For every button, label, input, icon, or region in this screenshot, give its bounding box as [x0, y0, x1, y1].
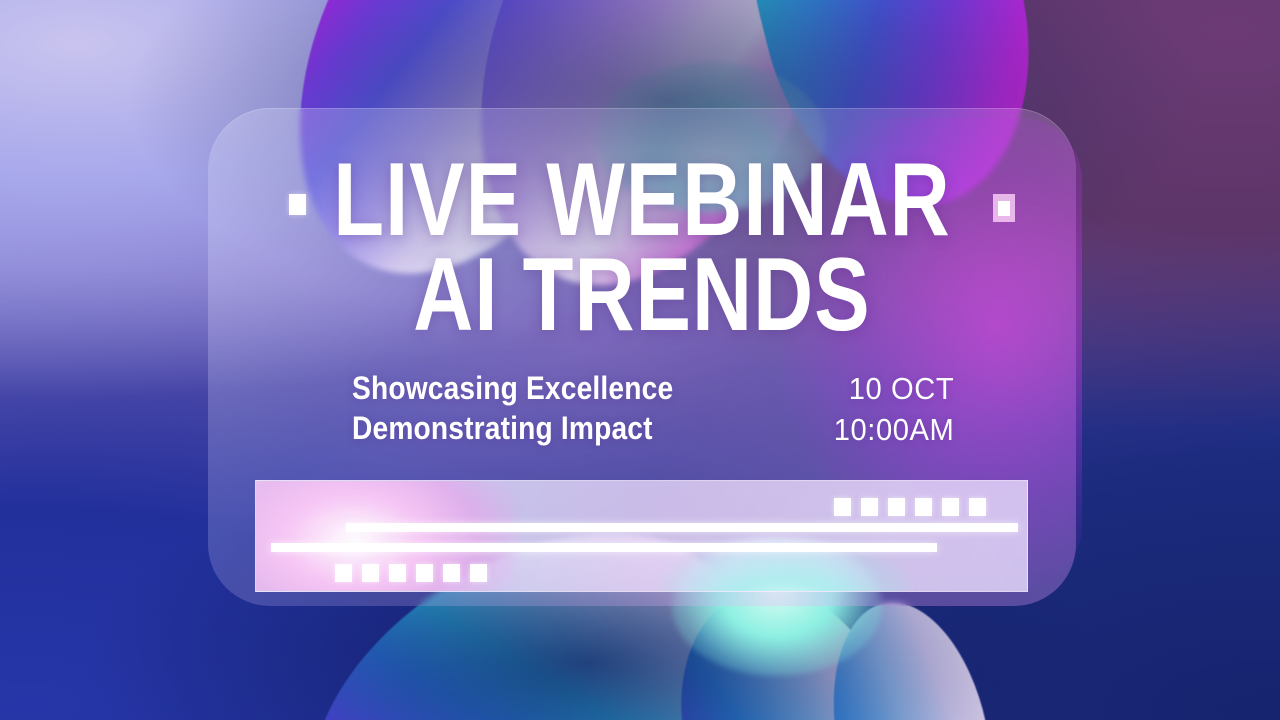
- panel-square: [834, 498, 851, 516]
- bottom-panel: [255, 480, 1028, 592]
- headline-block: LIVE WEBINAR AI TRENDS: [208, 156, 1076, 341]
- panel-square: [335, 564, 352, 582]
- event-date: 10 OCT: [848, 371, 954, 407]
- subtitle-line-2: Demonstrating Impact: [352, 411, 673, 446]
- subtitle-block: Showcasing Excellence Demonstrating Impa…: [352, 371, 717, 446]
- panel-square: [443, 564, 460, 582]
- schedule-block: 10 OCT 10:00AM: [826, 371, 954, 447]
- panel-square-row-bottom: [335, 564, 487, 582]
- webinar-poster: LIVE WEBINAR AI TRENDS Showcasing Excell…: [0, 0, 1280, 720]
- panel-bar-bottom: [271, 543, 937, 552]
- accent-square-right-core: [998, 201, 1010, 216]
- headline-line-1: LIVE WEBINAR: [295, 156, 989, 245]
- panel-square: [915, 498, 932, 516]
- panel-square: [470, 564, 487, 582]
- event-time: 10:00AM: [833, 412, 954, 448]
- accent-square-left-icon: [289, 194, 306, 215]
- panel-square-row-top: [834, 498, 986, 516]
- accent-square-right-icon: [993, 194, 1015, 222]
- panel-square: [416, 564, 433, 582]
- panel-square: [942, 498, 959, 516]
- panel-square: [389, 564, 406, 582]
- panel-square: [888, 498, 905, 516]
- info-row: Showcasing Excellence Demonstrating Impa…: [352, 371, 952, 447]
- headline-line-2: AI TRENDS: [295, 251, 989, 340]
- panel-square: [969, 498, 986, 516]
- panel-square: [861, 498, 878, 516]
- panel-bar-top: [346, 523, 1018, 532]
- panel-square: [362, 564, 379, 582]
- subtitle-line-1: Showcasing Excellence: [352, 371, 673, 406]
